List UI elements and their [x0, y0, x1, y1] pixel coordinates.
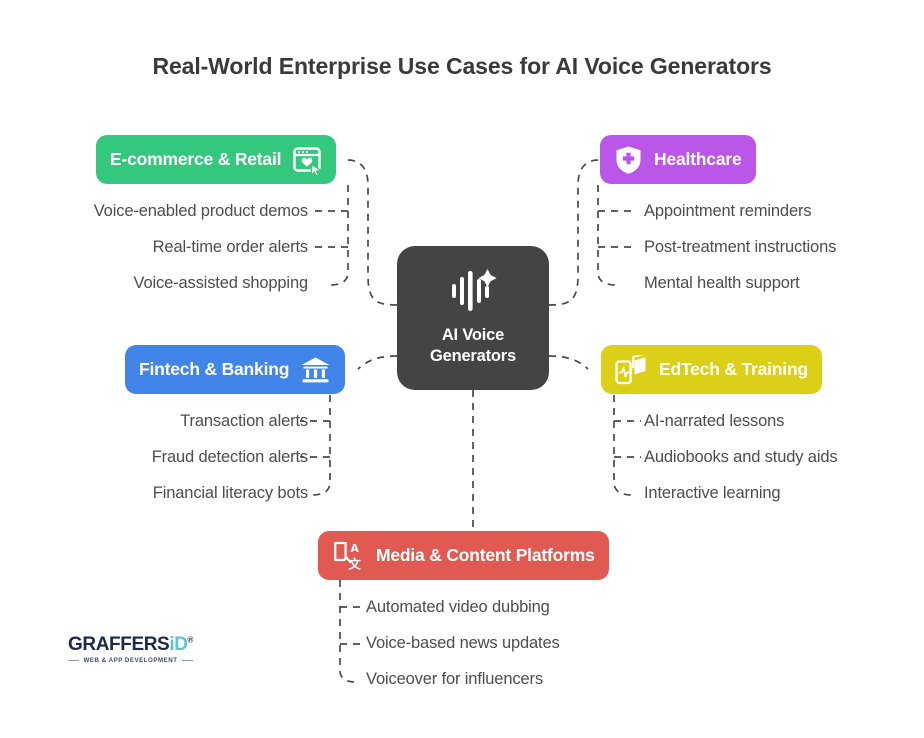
- branch-node-media[interactable]: A 文 Media & Content Platforms: [318, 531, 609, 580]
- leaf-item: Mental health support: [644, 265, 836, 301]
- voice-waveform-sparkle-icon: [448, 269, 498, 316]
- logo-word-main: RAFFERS: [82, 634, 169, 655]
- logo-tagline-row: WEB & APP DEVELOPMENT: [68, 657, 193, 664]
- wire-hub-healthcare: [549, 160, 598, 305]
- leaf-item: Real-time order alerts: [94, 229, 308, 265]
- wire-media-spine: [340, 580, 356, 682]
- tagline-rule-right: [182, 660, 193, 661]
- branch-node-healthcare[interactable]: Healthcare: [600, 135, 756, 184]
- hub-label-line2: Generators: [430, 347, 516, 365]
- wire-healthcare-spine: [598, 185, 616, 285]
- translate-language-icon: A 文: [332, 540, 365, 572]
- hub-label: AI Voice Generators: [430, 325, 516, 367]
- wire-edtech-spine: [614, 395, 632, 495]
- leaf-list-ecommerce: Voice-enabled product demos Real-time or…: [94, 193, 308, 301]
- browser-heart-cursor-icon: [292, 145, 322, 175]
- graffersid-logo: GRAFFERSiD® WEB & APP DEVELOPMENT: [68, 635, 193, 664]
- svg-text:A: A: [350, 542, 359, 555]
- leaf-item: Post-treatment instructions: [644, 229, 836, 265]
- wire-hub-edtech: [549, 356, 588, 369]
- logo-tagline: WEB & APP DEVELOPMENT: [83, 657, 177, 664]
- logo-word-g: G: [68, 634, 82, 655]
- leaf-list-healthcare: Appointment reminders Post-treatment ins…: [644, 193, 836, 301]
- leaf-list-edtech: AI-narrated lessons Audiobooks and study…: [644, 403, 837, 511]
- leaf-list-media: Automated video dubbing Voice-based news…: [366, 589, 560, 697]
- leaf-item: Fraud detection alerts: [152, 439, 308, 475]
- logo-word-d: D: [174, 634, 187, 655]
- leaf-item: Voice-enabled product demos: [94, 193, 308, 229]
- logo-wordmark: GRAFFERSiD®: [68, 635, 193, 654]
- shield-medical-cross-icon: [614, 145, 643, 175]
- branch-label-healthcare: Healthcare: [654, 149, 742, 170]
- registered-mark: ®: [188, 636, 194, 645]
- leaf-item: Voice-assisted shopping: [94, 265, 308, 301]
- wire-hub-ecommerce: [348, 160, 397, 305]
- branch-node-edtech[interactable]: EdTech & Training: [601, 345, 822, 394]
- leaf-item: AI-narrated lessons: [644, 403, 837, 439]
- wire-hub-fintech: [358, 356, 397, 369]
- mobile-waveform-book-icon: [615, 355, 648, 385]
- bank-building-icon: [300, 356, 331, 384]
- leaf-list-fintech: Transaction alerts Fraud detection alert…: [152, 403, 308, 511]
- leaf-item: Voice-based news updates: [366, 625, 560, 661]
- branch-label-media: Media & Content Platforms: [376, 545, 595, 566]
- wire-ecommerce-spine: [330, 185, 348, 285]
- leaf-item: Transaction alerts: [152, 403, 308, 439]
- branch-node-ecommerce[interactable]: E-commerce & Retail: [96, 135, 336, 184]
- leaf-item: Interactive learning: [644, 475, 837, 511]
- wire-fintech-spine: [312, 382, 330, 495]
- infographic-canvas: Real-World Enterprise Use Cases for AI V…: [0, 0, 924, 738]
- hub-label-line1: AI Voice: [442, 326, 504, 344]
- hub-node-ai-voice-generators[interactable]: AI Voice Generators: [397, 246, 549, 390]
- leaf-item: Voiceover for influencers: [366, 661, 560, 697]
- branch-node-fintech[interactable]: Fintech & Banking: [125, 345, 345, 394]
- branch-label-edtech: EdTech & Training: [659, 359, 808, 380]
- svg-text:文: 文: [348, 556, 361, 571]
- branch-label-ecommerce: E-commerce & Retail: [110, 149, 281, 170]
- leaf-item: Automated video dubbing: [366, 589, 560, 625]
- branch-label-fintech: Fintech & Banking: [139, 359, 289, 380]
- tagline-rule-left: [68, 660, 79, 661]
- leaf-item: Appointment reminders: [644, 193, 836, 229]
- leaf-item: Financial literacy bots: [152, 475, 308, 511]
- leaf-item: Audiobooks and study aids: [644, 439, 837, 475]
